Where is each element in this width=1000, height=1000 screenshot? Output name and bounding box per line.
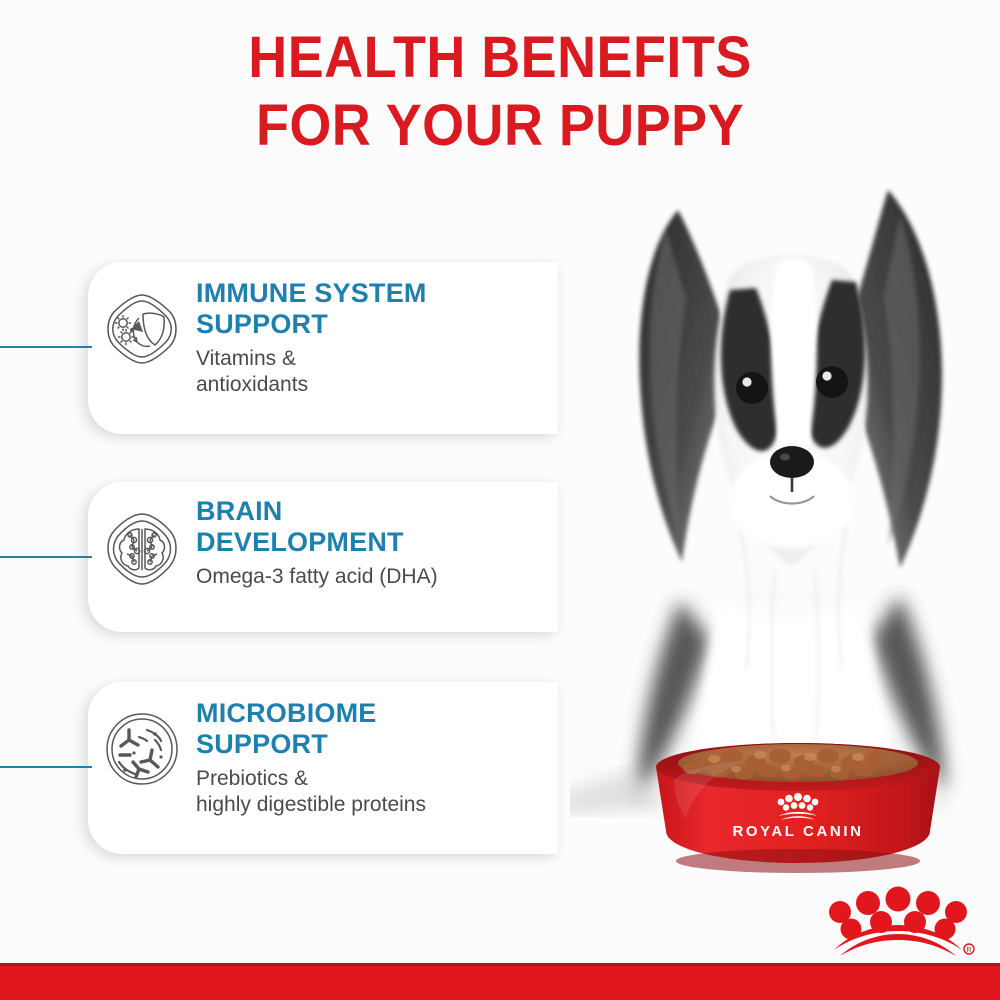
benefit-text-immune-system: IMMUNE SYSTEM SUPPORT Vitamins & antioxi… — [196, 276, 435, 398]
page-title: HEALTH BENEFITS FOR YOUR PUPPY — [0, 24, 1000, 160]
immune-shield-icon — [88, 276, 196, 368]
connector-line-3 — [0, 766, 92, 768]
title-line-2: FOR YOUR PUPPY — [35, 92, 965, 160]
brain-icon — [88, 496, 196, 588]
benefit-heading: MICROBIOME SUPPORT — [196, 698, 426, 760]
registered-mark: R — [966, 947, 971, 954]
footer-red-bar — [0, 966, 1000, 1000]
connector-line-1 — [0, 346, 92, 348]
benefit-description: Omega-3 fatty acid (DHA) — [196, 564, 438, 590]
benefit-text-microbiome-support: MICROBIOME SUPPORT Prebiotics & highly d… — [196, 696, 434, 818]
benefit-description: Prebiotics & highly digestible proteins — [196, 766, 426, 818]
benefit-heading: BRAIN DEVELOPMENT — [196, 496, 438, 558]
title-line-1: HEALTH BENEFITS — [35, 24, 965, 92]
red-dog-bowl-with-kibble: ROYAL CANIN — [648, 735, 948, 880]
benefit-heading: IMMUNE SYSTEM SUPPORT — [196, 278, 427, 340]
benefit-card-brain-development[interactable]: BRAIN DEVELOPMENT Omega-3 fatty acid (DH… — [88, 482, 558, 632]
benefit-text-brain-development: BRAIN DEVELOPMENT Omega-3 fatty acid (DH… — [196, 496, 446, 590]
benefit-card-immune-system[interactable]: IMMUNE SYSTEM SUPPORT Vitamins & antioxi… — [88, 262, 558, 434]
microbiome-icon — [88, 696, 196, 788]
connector-line-2 — [0, 556, 92, 558]
benefit-description: Vitamins & antioxidants — [196, 346, 427, 398]
royal-canin-crown-logo: R — [818, 880, 978, 960]
benefit-card-microbiome-support[interactable]: MICROBIOME SUPPORT Prebiotics & highly d… — [88, 682, 558, 854]
